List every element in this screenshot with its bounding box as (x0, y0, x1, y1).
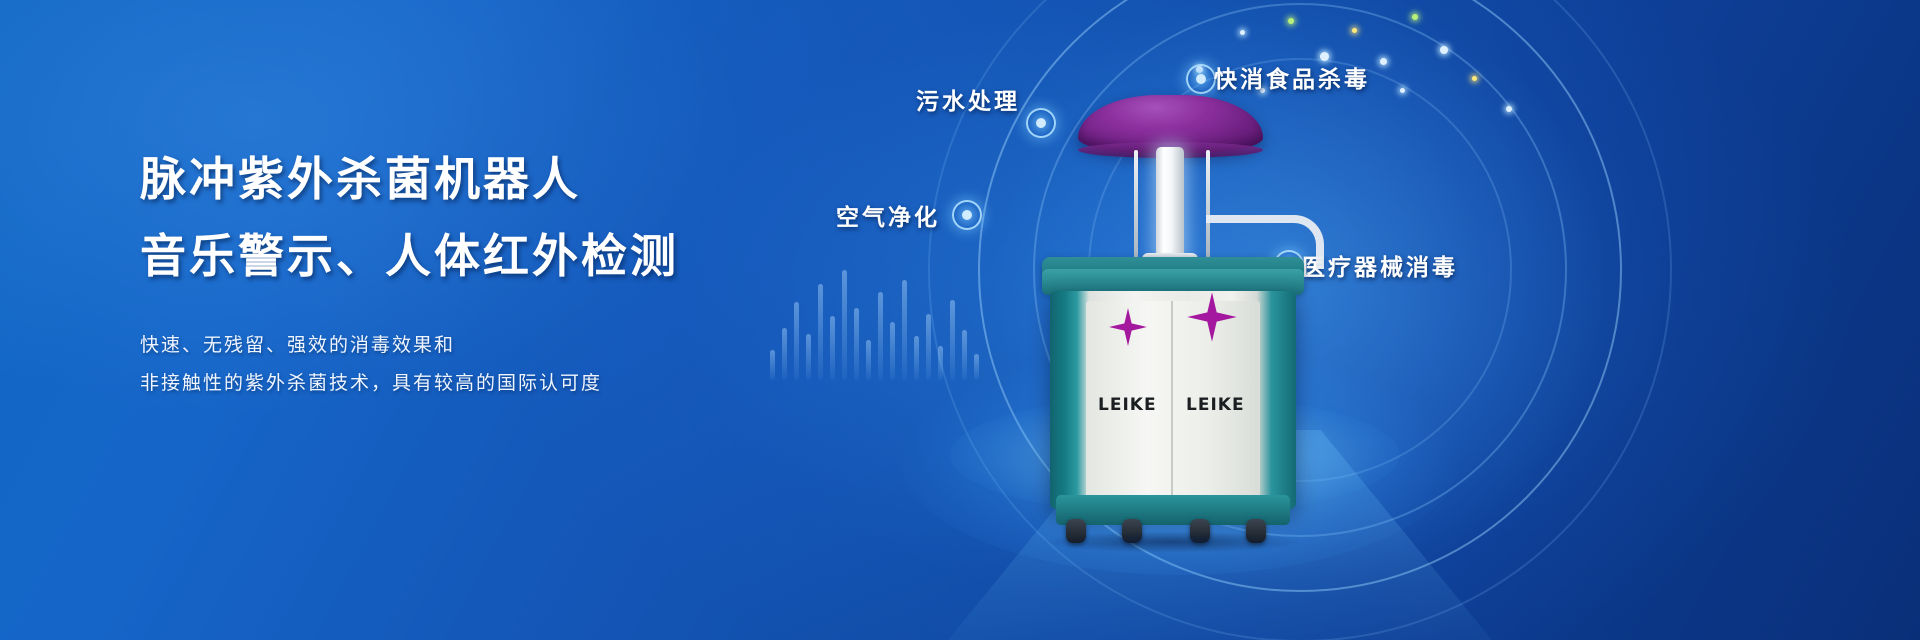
banner-copy: 脉冲紫外杀菌机器人 音乐警示、人体红外检测 快速、无残留、强效的消毒效果和 非接… (140, 150, 840, 402)
lamp-support-rod-left (1134, 150, 1138, 258)
brand-label-left: LEIKE (1098, 395, 1157, 415)
hotspot-node-food[interactable] (1186, 64, 1216, 94)
sparkle-dot (1412, 14, 1418, 20)
sparkle-dot (1506, 106, 1512, 112)
sparkle-dot (1440, 46, 1448, 54)
sparkle-star-icon (1108, 307, 1148, 347)
hotspot-label-wastewater[interactable]: 污水处理 (916, 82, 1020, 116)
device-shadow (1040, 531, 1304, 553)
banner-headline-line2: 音乐警示、人体红外检测 (140, 227, 840, 286)
sparkle-dot (1472, 76, 1477, 81)
banner-description-line1: 快速、无残留、强效的消毒效果和 (140, 326, 840, 364)
hotspot-node-air[interactable] (952, 200, 982, 230)
sparkle-dot (1288, 18, 1294, 24)
banner-description: 快速、无残留、强效的消毒效果和 非接触性的紫外杀菌技术，具有较高的国际认可度 (140, 326, 840, 402)
sparkle-dot (1240, 30, 1245, 35)
sparkle-star-icon (1186, 291, 1238, 331)
sparkle-dot (1400, 88, 1405, 93)
sparkle-dot (1352, 28, 1357, 33)
hotspot-label-food[interactable]: 快消食品杀毒 (1214, 60, 1370, 94)
banner-description-line2: 非接触性的紫外杀菌技术，具有较高的国际认可度 (140, 364, 840, 402)
hotspot-label-medical[interactable]: 医疗器械消毒 (1302, 248, 1458, 282)
banner-headline-line1: 脉冲紫外杀菌机器人 (140, 150, 840, 209)
uv-disinfection-robot: LEIKE LEIKE (1030, 95, 1320, 515)
sparkle-dot (1380, 58, 1387, 65)
panel-divider (1171, 301, 1173, 497)
promo-banner: 脉冲紫外杀菌机器人 音乐警示、人体红外检测 快速、无残留、强效的消毒效果和 非接… (0, 0, 1920, 640)
brand-label-right: LEIKE (1186, 395, 1245, 415)
hotspot-label-air[interactable]: 空气净化 (836, 198, 940, 232)
uv-lamp-tube (1156, 147, 1184, 259)
